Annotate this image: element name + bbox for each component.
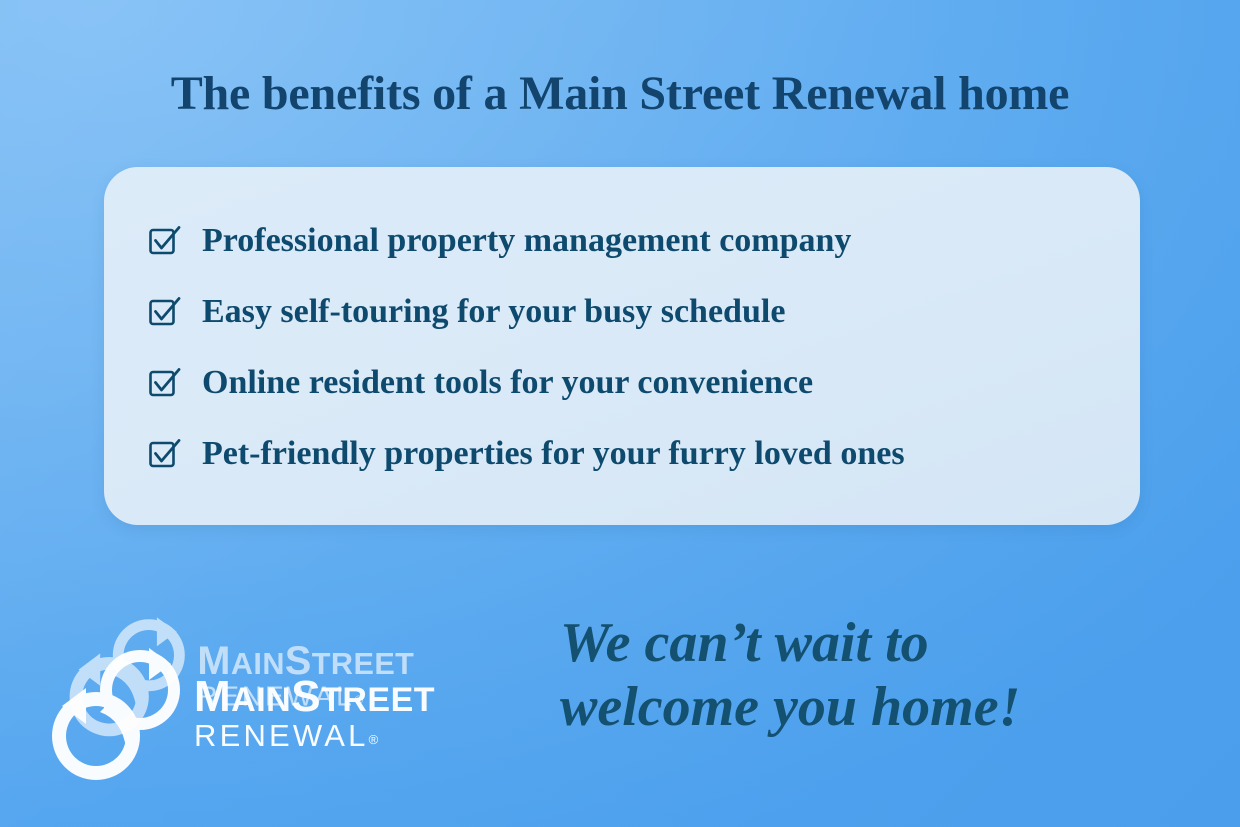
brand-wordmark-m: M bbox=[194, 672, 231, 721]
brand-wordmark-treet: TREET bbox=[321, 681, 435, 719]
tagline-line-1: We can’t wait to bbox=[560, 612, 1180, 676]
mainstreet-renewal-swirl-icon bbox=[48, 642, 188, 782]
checkbox-checked-icon bbox=[148, 294, 182, 328]
benefits-list: Professional property management company… bbox=[148, 205, 1116, 489]
page-title: The benefits of a Main Street Renewal ho… bbox=[0, 68, 1240, 121]
brand-wordmark: MAINSTREET RENEWAL® bbox=[194, 671, 435, 753]
list-item-label: Easy self-touring for your busy schedule bbox=[202, 293, 785, 330]
brand-wordmark-ain: AIN bbox=[231, 681, 291, 719]
brand-logo: MAINSTREET RENEWAL® MAINSTREET R bbox=[48, 628, 518, 798]
tagline-line-2: welcome you home! bbox=[560, 676, 1180, 740]
list-item: Online resident tools for your convenien… bbox=[148, 347, 1116, 418]
list-item-label: Pet-friendly properties for your furry l… bbox=[202, 435, 905, 472]
benefits-card: Professional property management company… bbox=[104, 167, 1140, 525]
list-item: Easy self-touring for your busy schedule bbox=[148, 276, 1116, 347]
list-item: Pet-friendly properties for your furry l… bbox=[148, 418, 1116, 489]
brand-wordmark-s: S bbox=[291, 672, 321, 721]
promotional-poster: The benefits of a Main Street Renewal ho… bbox=[0, 0, 1240, 827]
checkbox-checked-icon bbox=[148, 365, 182, 399]
brand-wordmark-main: MAINSTREET bbox=[194, 675, 435, 718]
brand-wordmark-renewal: RENEWAL bbox=[194, 718, 369, 753]
list-item: Professional property management company bbox=[148, 205, 1116, 276]
brand-wordmark-sub: RENEWAL® bbox=[194, 720, 435, 753]
brand-logo-primary-copy: MAINSTREET RENEWAL® bbox=[48, 642, 435, 782]
tagline: We can’t wait to welcome you home! bbox=[560, 612, 1180, 740]
list-item-label: Professional property management company bbox=[202, 222, 851, 259]
registered-trademark-icon: ® bbox=[369, 732, 379, 747]
list-item-label: Online resident tools for your convenien… bbox=[202, 364, 813, 401]
checkbox-checked-icon bbox=[148, 223, 182, 257]
checkbox-checked-icon bbox=[148, 436, 182, 470]
